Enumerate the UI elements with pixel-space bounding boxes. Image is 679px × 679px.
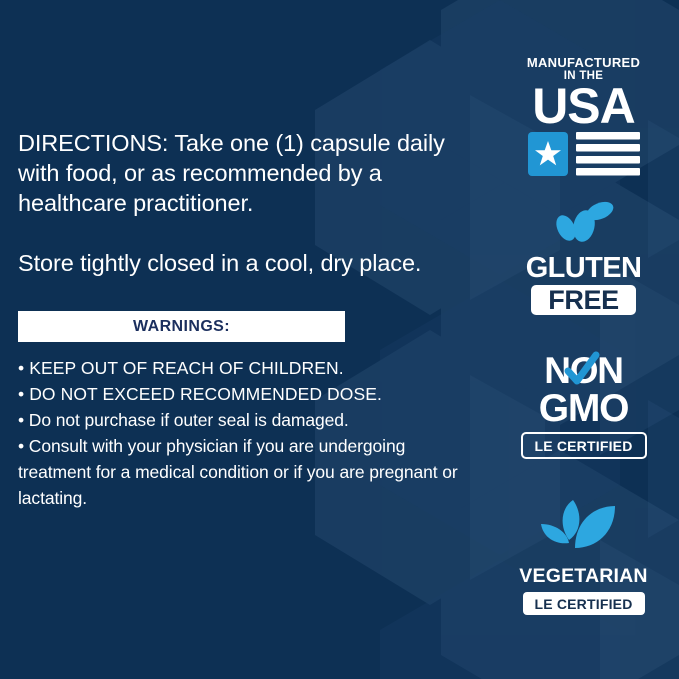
gluten-free-box: FREE: [531, 285, 636, 315]
warning-item-1: • KEEP OUT OF REACH OF CHILDREN.: [18, 355, 470, 381]
non-gmo-certified-box: LE CERTIFIED: [521, 432, 647, 459]
leaves-icon: [496, 498, 671, 565]
label-text-column: DIRECTIONS: Take one (1) capsule daily w…: [18, 128, 470, 511]
warning-item-3: • Do not purchase if outer seal is damag…: [18, 407, 470, 433]
badge-non-gmo: NON GMO LE CERTIFIED: [496, 352, 671, 459]
badge-manufactured-usa: MANUFACTURED IN THE USA: [496, 56, 671, 182]
blue-checkmark-icon: [559, 350, 603, 394]
vegetarian-badge-word: VEGETARIAN: [496, 565, 671, 587]
badge-gluten-free: GLUTEN FREE: [496, 198, 671, 315]
vegetarian-certified-label: LE CERTIFIED: [534, 596, 632, 612]
gluten-free-label: FREE: [548, 285, 618, 316]
warnings-list: • KEEP OUT OF REACH OF CHILDREN. • DO NO…: [18, 355, 470, 511]
badge-vegetarian: VEGETARIAN LE CERTIFIED: [496, 498, 671, 615]
warning-item-4: • Consult with your physician if you are…: [18, 433, 470, 511]
vegetarian-certified-box: LE CERTIFIED: [523, 592, 645, 615]
usa-badge-line1: MANUFACTURED: [496, 56, 671, 70]
usa-badge-word: USA: [496, 84, 671, 128]
directions-text: DIRECTIONS: Take one (1) capsule daily w…: [18, 128, 470, 218]
non-gmo-certified-label: LE CERTIFIED: [534, 438, 632, 454]
certification-badge-column: MANUFACTURED IN THE USA: [496, 0, 671, 679]
warning-item-2: • DO NOT EXCEED RECOMMENDED DOSE.: [18, 381, 470, 407]
warnings-heading-box: WARNINGS:: [18, 311, 345, 342]
storage-text: Store tightly closed in a cool, dry plac…: [18, 248, 470, 278]
gluten-badge-word: GLUTEN: [496, 253, 671, 283]
supplement-label-panel: DIRECTIONS: Take one (1) capsule daily w…: [0, 0, 679, 679]
grain-leaves-icon: [496, 198, 671, 253]
gmo-badge-word: GMO: [496, 390, 671, 428]
us-flag-icon: [528, 131, 640, 182]
warnings-heading-label: WARNINGS:: [133, 318, 230, 336]
non-gmo-top-row: NON: [496, 352, 671, 392]
